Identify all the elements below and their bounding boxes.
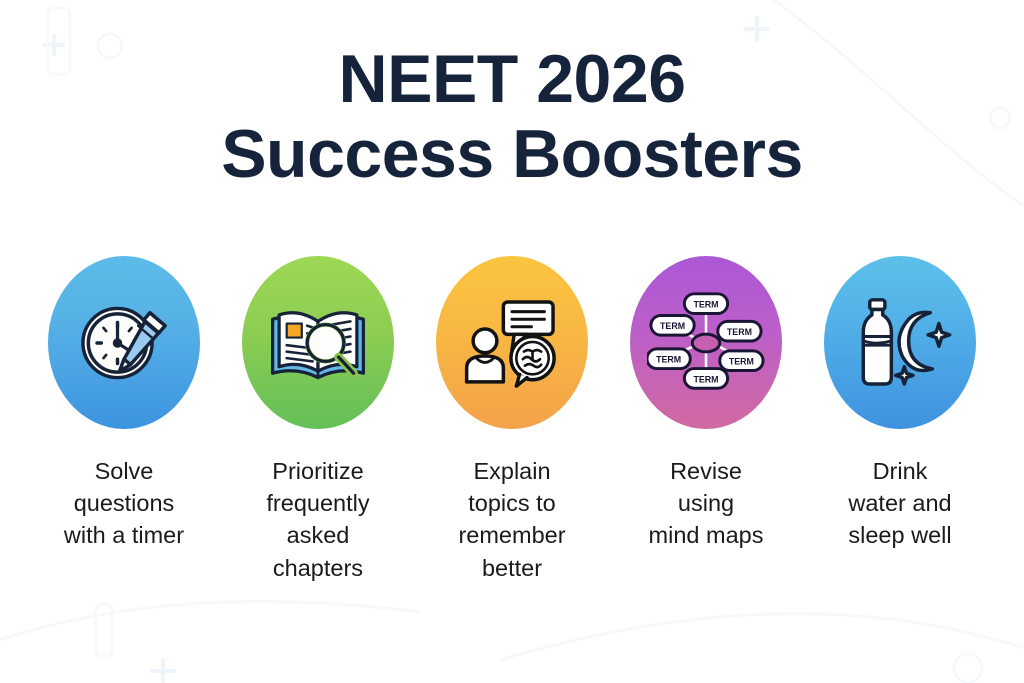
mindmap-node-label: TERM (693, 374, 718, 384)
card-caption: Drink water and sleep well (810, 455, 990, 552)
infographic-canvas: NEET 2026 Success Boosters (0, 0, 1024, 683)
watermark-bar-bottomleft (96, 604, 112, 656)
mindmap-node: TERM (718, 321, 761, 341)
title-line-one: NEET 2026 (0, 44, 1024, 115)
mindmap-node: TERM (647, 348, 690, 368)
mindmap-node: TERM (651, 315, 694, 335)
mindmap-node-label: TERM (693, 299, 718, 309)
icon-circle-purple-mindmap: TERM TERM TERM (630, 256, 782, 429)
booster-cards-row: Solve questions with a timer (0, 256, 1024, 584)
icon-circle-blue-clock (48, 256, 200, 429)
book-magnifier-icon (264, 289, 372, 397)
icon-circle-orange-explain (436, 256, 588, 429)
title-line-two: Success Boosters (0, 119, 1024, 190)
mindmap-node-label: TERM (656, 354, 681, 364)
card-caption: Prioritize frequently asked chapters (228, 455, 408, 584)
watermark-plus-bottom (152, 660, 174, 682)
clock-pencil-icon (70, 289, 178, 397)
booster-card-prioritize-frequently-asked[interactable]: Prioritize frequently asked chapters (232, 256, 404, 584)
watermark-arc-bottomright (500, 614, 1024, 660)
mindmap-node: TERM (720, 350, 763, 370)
mindmap-node: TERM (684, 293, 727, 313)
card-caption: Revise using mind maps (616, 455, 796, 552)
card-caption: Explain topics to remember better (422, 455, 602, 584)
booster-card-drink-water-sleep[interactable]: Drink water and sleep well (814, 256, 986, 552)
watermark-arc-bottomleft (0, 601, 420, 640)
person-speech-brain-icon (458, 289, 566, 397)
mindmap-node-label: TERM (660, 321, 685, 331)
watermark-circle-bottomright (954, 654, 982, 682)
watermark-plus-top (746, 18, 768, 40)
booster-card-revise-mind-maps[interactable]: TERM TERM TERM (620, 256, 792, 552)
mindmap-node: TERM (684, 368, 727, 388)
mind-map-icon: TERM TERM TERM (647, 287, 765, 399)
icon-circle-blue-hydration (824, 256, 976, 429)
booster-card-explain-topics-remember[interactable]: Explain topics to remember better (426, 256, 598, 584)
icon-circle-green-book (242, 256, 394, 429)
card-caption: Solve questions with a timer (34, 455, 214, 552)
booster-card-solve-questions-timer[interactable]: Solve questions with a timer (38, 256, 210, 552)
mindmap-node-label: TERM (727, 327, 752, 337)
bottle-moon-icon (846, 289, 954, 397)
page-title: NEET 2026 Success Boosters (0, 44, 1024, 189)
mindmap-node-label: TERM (729, 356, 754, 366)
